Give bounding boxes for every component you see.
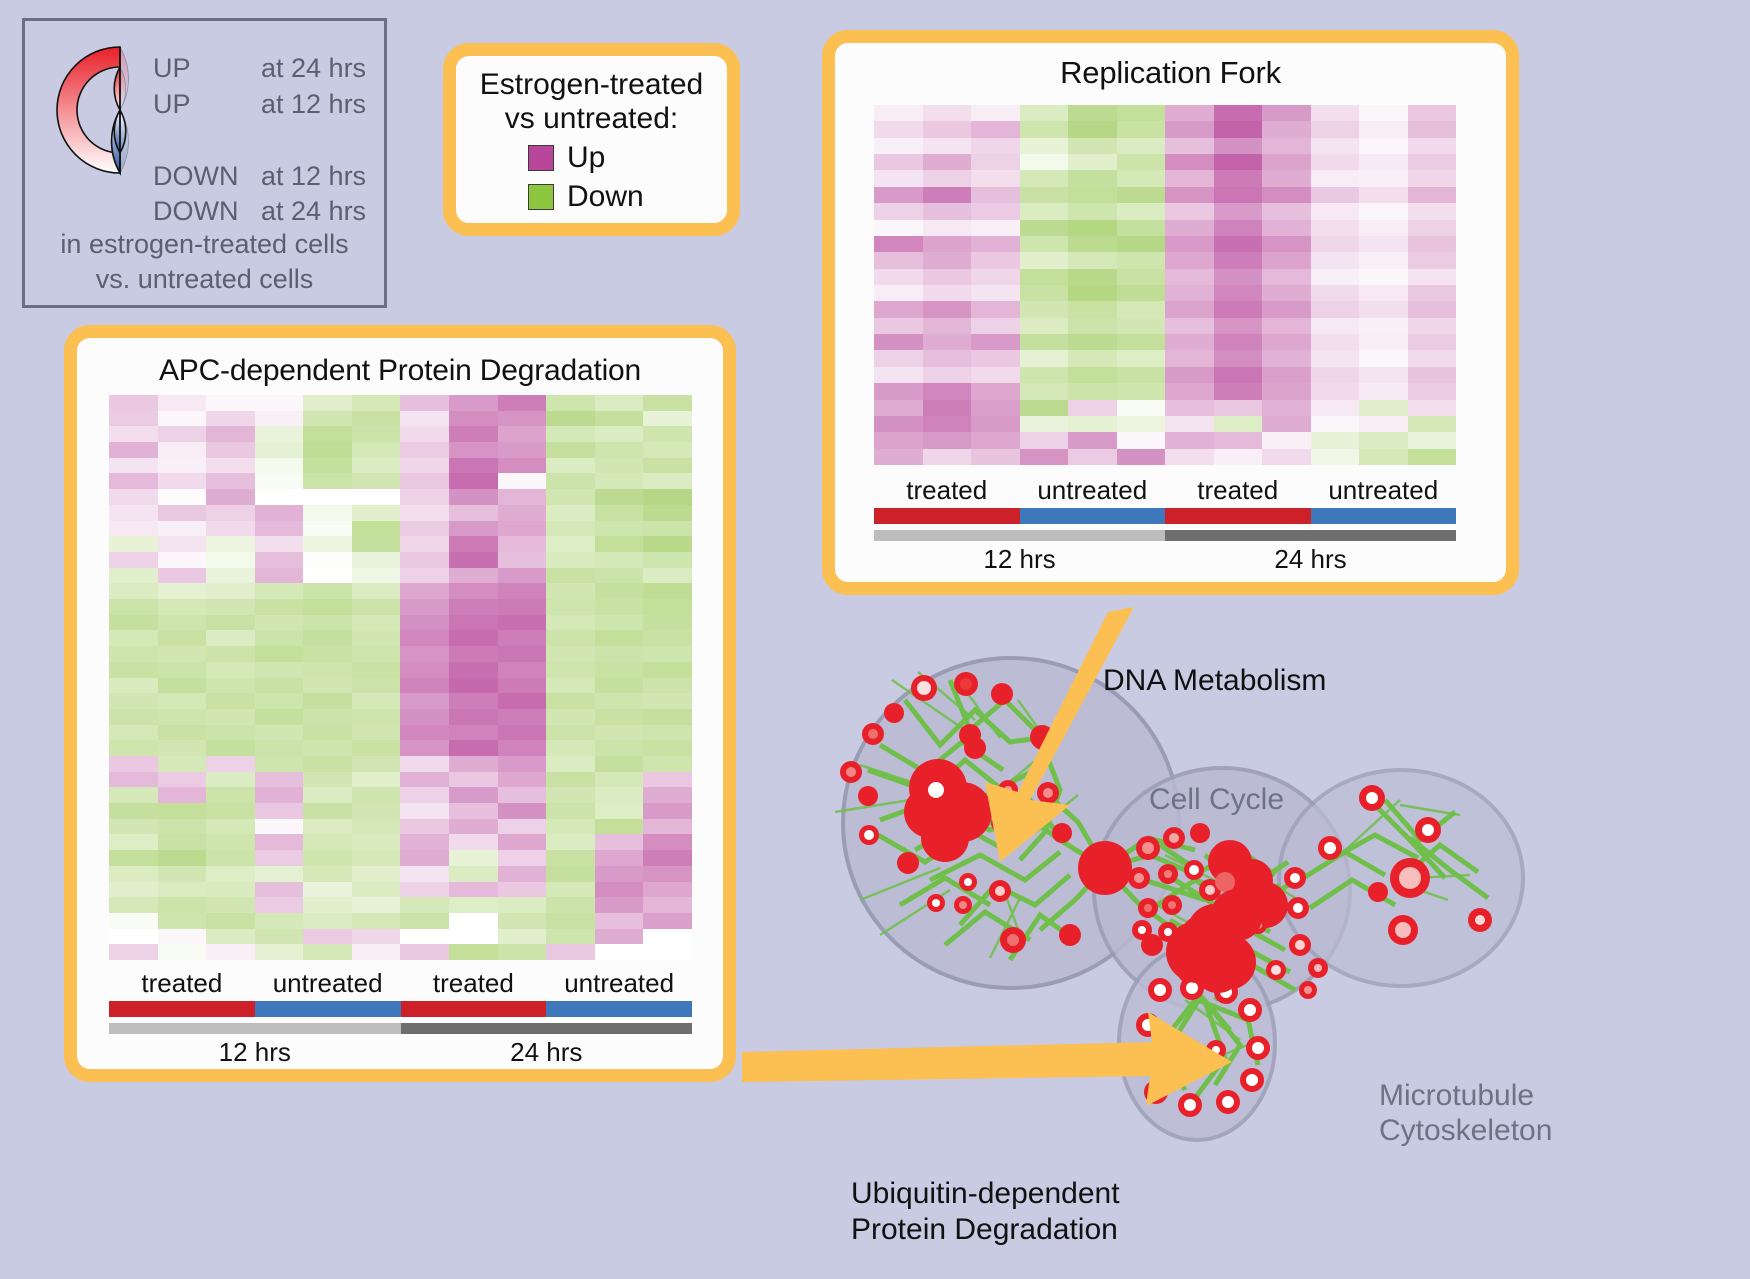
up-swatch-icon [528, 145, 554, 171]
heatmap-cell [923, 105, 972, 121]
heatmap-cell [923, 252, 972, 268]
heatmap-cell [1262, 318, 1311, 334]
heatmap-cell [1068, 400, 1117, 416]
heatmap-cell [1117, 187, 1166, 203]
heatmap-cell [352, 882, 401, 898]
bar-segment-24hrs [401, 1023, 547, 1034]
heatmap-cell [1408, 203, 1457, 219]
heatmap-cell [400, 552, 449, 568]
heatmap-cell [303, 615, 352, 631]
heatmap-cell [449, 583, 498, 599]
heatmap-cell [1311, 269, 1360, 285]
bar-segment-12hrs [109, 1023, 255, 1034]
heatmap-cell [206, 615, 255, 631]
heatmap-cell [1117, 301, 1166, 317]
heatmap-cell [923, 138, 972, 154]
heatmap-cell [1311, 301, 1360, 317]
heatmap-cell [1165, 121, 1214, 137]
heatmap-cell [1020, 400, 1069, 416]
heatmap-cell [303, 882, 352, 898]
heatmap-cell [498, 568, 547, 584]
heatmap-cell [498, 803, 547, 819]
heatmap-cell [352, 678, 401, 694]
heatmap-cell [109, 505, 158, 521]
heatmap-cell [1117, 252, 1166, 268]
heatmap-cell [498, 866, 547, 882]
heatmap-cell [449, 521, 498, 537]
heatmap-cell [352, 787, 401, 803]
heatmap-cell [206, 473, 255, 489]
heatmap-cell [449, 552, 498, 568]
heatmap-cell [449, 473, 498, 489]
heatmap-cell [643, 944, 692, 960]
heatmap-cell [206, 897, 255, 913]
heatmap-cell [158, 819, 207, 835]
heatmap-cell [109, 756, 158, 772]
heatmap-cell [1068, 416, 1117, 432]
heatmap-cell [1311, 318, 1360, 334]
heatmap-cell [1408, 432, 1457, 448]
heatmap-cell [303, 850, 352, 866]
heatmap-cell [498, 850, 547, 866]
heatmap-cell [874, 400, 923, 416]
heatmap-cell [1408, 105, 1457, 121]
heatmap-cell [546, 568, 595, 584]
legend-item-down: Down [528, 180, 727, 214]
heatmap-cell [546, 411, 595, 427]
cluster-microtubule [1279, 770, 1523, 986]
heatmap-cell [1165, 105, 1214, 121]
heatmap-cell [109, 489, 158, 505]
heatmap-cell [546, 819, 595, 835]
heatmap-cell [643, 709, 692, 725]
heatmap-cell [109, 850, 158, 866]
heatmap-cell [1311, 383, 1360, 399]
heatmap-cell [1311, 416, 1360, 432]
heatmap-cell [498, 725, 547, 741]
heatmap-cell [595, 662, 644, 678]
heatmap-cell [109, 678, 158, 694]
heatmap-cell [595, 395, 644, 411]
heatmap-cell [206, 834, 255, 850]
heatmap-cell [643, 913, 692, 929]
heatmap-cell [643, 630, 692, 646]
heatmap-cell [206, 536, 255, 552]
bar-segment-untreated [1311, 508, 1457, 524]
heatmap-cell [1068, 105, 1117, 121]
heatmap-cell [303, 646, 352, 662]
heatmap-cell [400, 458, 449, 474]
heatmap-cell [400, 819, 449, 835]
heatmap-cell [546, 913, 595, 929]
heatmap-cell [1117, 203, 1166, 219]
heatmap-cell [206, 521, 255, 537]
heatmap-cell [546, 944, 595, 960]
heatmap-cell [971, 236, 1020, 252]
heatmap-cell [158, 756, 207, 772]
heatmap-cell [595, 834, 644, 850]
heatmap-cell [498, 944, 547, 960]
heatmap-cell [1311, 252, 1360, 268]
heatmap-cell [1068, 252, 1117, 268]
heatmap-cell [449, 803, 498, 819]
heatmap-cell [449, 568, 498, 584]
heatmap-cell [546, 787, 595, 803]
heatmap-cell [595, 756, 644, 772]
heatmap-cell [255, 709, 304, 725]
heatmap-cell [546, 678, 595, 694]
heatmap-cell [158, 395, 207, 411]
heatmap-cell [400, 442, 449, 458]
heatmap-cell [352, 552, 401, 568]
heatmap-cell [1214, 400, 1263, 416]
label-dna-metabolism: DNA Metabolism [1103, 664, 1326, 698]
heatmap-cell [971, 301, 1020, 317]
heatmap-cell [352, 756, 401, 772]
heatmap-cell [109, 929, 158, 945]
heatmap-cell [206, 803, 255, 819]
heatmap-cell [923, 121, 972, 137]
heatmap-cell [109, 897, 158, 913]
heatmap-cell [1068, 350, 1117, 366]
heatmap-cell [546, 536, 595, 552]
heatmap-cell [158, 630, 207, 646]
bar-segment-12hrs [1020, 530, 1166, 541]
heatmap-cell [498, 662, 547, 678]
heatmap-cell [109, 882, 158, 898]
heatmap-cell [303, 568, 352, 584]
heatmap-cell [1068, 432, 1117, 448]
key-time: at 12 hrs [261, 161, 366, 191]
heatmap-cell [449, 411, 498, 427]
bar-segment-12hrs [255, 1023, 401, 1034]
heatmap-cell [158, 913, 207, 929]
heatmap-cell [1068, 203, 1117, 219]
heatmap-cell [595, 882, 644, 898]
heatmap-cell [923, 334, 972, 350]
bar-segment-treated [109, 1001, 255, 1017]
heatmap-cell [109, 866, 158, 882]
heatmap-cell [303, 552, 352, 568]
heatmap-cell [255, 678, 304, 694]
node-ringed [840, 672, 1492, 1117]
heatmap-cell [643, 395, 692, 411]
heatmap-cell [255, 882, 304, 898]
heatmap-cell [1020, 138, 1069, 154]
heatmap-cell [1117, 236, 1166, 252]
heatmap-cell [874, 449, 923, 465]
heatmap-cell [595, 615, 644, 631]
heatmap-cell [1117, 318, 1166, 334]
heatmap-cell [971, 350, 1020, 366]
heatmap-cell [546, 599, 595, 615]
heatmap-cell [400, 630, 449, 646]
heatmap-cell [303, 834, 352, 850]
heatmap-cell [1214, 449, 1263, 465]
heatmap-cell [643, 458, 692, 474]
heatmap-cell [449, 662, 498, 678]
legend-title-line1: Estrogen-treated [456, 68, 727, 102]
key-row-up-24: UPat 24 hrs [153, 53, 366, 84]
heatmap-cell [303, 756, 352, 772]
heatmap-cell [643, 411, 692, 427]
heatmap-cell [400, 583, 449, 599]
heatmap-cell [595, 505, 644, 521]
heatmap-cell [1214, 334, 1263, 350]
heatmap-cell [206, 552, 255, 568]
heatmap-cell [400, 866, 449, 882]
heatmap-cell [206, 395, 255, 411]
heatmap-cell [1020, 203, 1069, 219]
heatmap-cell [255, 599, 304, 615]
heatmap-cell [643, 787, 692, 803]
heatmap-cell [158, 944, 207, 960]
heatmap-cell [1359, 220, 1408, 236]
heatmap-cell [1359, 285, 1408, 301]
group-label: treated [401, 968, 547, 999]
heatmap-cell [595, 897, 644, 913]
heatmap-cell [595, 725, 644, 741]
heatmap-cell [303, 944, 352, 960]
heatmap-cell [400, 411, 449, 427]
heatmap-cell [546, 395, 595, 411]
group-labels: treated untreated treated untreated [109, 968, 692, 999]
heatmap-cell [546, 772, 595, 788]
heatmap-cell [158, 725, 207, 741]
apc-degradation-panel: APC-dependent Protein Degradation treate… [64, 325, 736, 1082]
heatmap-cell [352, 505, 401, 521]
heatmap-cell [1359, 318, 1408, 334]
heatmap-cell [109, 426, 158, 442]
heatmap-cell [1214, 416, 1263, 432]
heatmap-cell [595, 929, 644, 945]
heatmap-cell [498, 709, 547, 725]
heatmap-cell [1262, 301, 1311, 317]
heatmap-cell [971, 220, 1020, 236]
heatmap-cell [158, 693, 207, 709]
heatmap-cell [158, 929, 207, 945]
heatmap-cell [206, 913, 255, 929]
key-time: at 24 hrs [261, 196, 366, 226]
heatmap-cell [1408, 350, 1457, 366]
heatmap-cell [352, 630, 401, 646]
heatmap-cell [643, 615, 692, 631]
heatmap-cell [206, 426, 255, 442]
heatmap-cell [1359, 432, 1408, 448]
group-label: treated [109, 968, 255, 999]
heatmap-cell [206, 709, 255, 725]
heatmap-cell [400, 944, 449, 960]
heatmap-cell [643, 442, 692, 458]
heatmap-cell [1262, 400, 1311, 416]
heatmap-cell [303, 599, 352, 615]
heatmap-cell [498, 678, 547, 694]
heatmap-cell [206, 725, 255, 741]
cluster-ubiquitin [1119, 946, 1275, 1140]
heatmap-cell [874, 350, 923, 366]
bar-segment-24hrs [1165, 530, 1311, 541]
timepoint-labels: 12 hrs 24 hrs [874, 544, 1456, 575]
heatmap-cell [595, 568, 644, 584]
heatmap-cell [109, 772, 158, 788]
updown-legend-panel: Estrogen-treated vs untreated: Up Down [443, 43, 740, 236]
heatmap-cell [1117, 121, 1166, 137]
heatmap-cell [498, 740, 547, 756]
heatmap-cell [255, 489, 304, 505]
heatmap-cell [546, 834, 595, 850]
heatmap-cell [1117, 449, 1166, 465]
heatmap-cell [498, 615, 547, 631]
heatmap-cell [352, 411, 401, 427]
heatmap-cell [303, 630, 352, 646]
heatmap-cell [109, 803, 158, 819]
heatmap-cell [158, 583, 207, 599]
heatmap-cell [971, 121, 1020, 137]
heatmap-cell [400, 395, 449, 411]
heatmap-cell [874, 187, 923, 203]
heatmap-cell [352, 803, 401, 819]
heatmap-cell [546, 693, 595, 709]
heatmap-cell [874, 121, 923, 137]
heatmap-cell [546, 866, 595, 882]
node-hub [1166, 889, 1263, 993]
heatmap-cell [874, 170, 923, 186]
heatmap-cell [971, 252, 1020, 268]
heatmap-cell [595, 803, 644, 819]
heatmap-cell [498, 787, 547, 803]
group-label: untreated [1020, 475, 1166, 506]
heatmap-cell [595, 630, 644, 646]
heatmap-cell [1117, 170, 1166, 186]
heatmap-cell [1214, 121, 1263, 137]
heatmap-cell [206, 787, 255, 803]
heatmap-cell [643, 725, 692, 741]
heatmap-cell [874, 252, 923, 268]
heatmap-cell [352, 583, 401, 599]
heatmap-cell [255, 458, 304, 474]
heatmap-cell [400, 709, 449, 725]
heatmap-cell [158, 662, 207, 678]
heatmap-cell [874, 105, 923, 121]
heatmap-cell [1359, 236, 1408, 252]
heatmap-cell [1408, 220, 1457, 236]
heatmap-cell [1068, 334, 1117, 350]
heatmap-cell [303, 395, 352, 411]
heatmap-cell [971, 285, 1020, 301]
bar-segment-24hrs [546, 1023, 692, 1034]
heatmap-cell [303, 897, 352, 913]
heatmap-cell [1117, 220, 1166, 236]
heatmap-cell [352, 709, 401, 725]
heatmap-cell [449, 725, 498, 741]
heatmap-cell [158, 489, 207, 505]
heatmap-cell [1262, 367, 1311, 383]
legend-title-line2: vs untreated: [456, 102, 727, 136]
heatmap-cell [1068, 138, 1117, 154]
heatmap-cell [158, 709, 207, 725]
heatmap-cell [546, 740, 595, 756]
heatmap-cell [1165, 432, 1214, 448]
heatmap-cell [643, 929, 692, 945]
heatmap-cell [303, 521, 352, 537]
heatmap-cell [206, 662, 255, 678]
heatmap-cell [449, 536, 498, 552]
heatmap-cell [643, 772, 692, 788]
heatmap-cell [1408, 449, 1457, 465]
timepoint-label: 12 hrs [874, 544, 1165, 575]
heatmap-cell [1165, 301, 1214, 317]
panel-title: APC-dependent Protein Degradation [77, 338, 723, 388]
heatmap-cell [109, 568, 158, 584]
heatmap-cell [546, 725, 595, 741]
heatmap-cell [206, 568, 255, 584]
heatmap-cell [352, 834, 401, 850]
apc-degradation-heatmap [109, 395, 692, 960]
heatmap-cell [352, 646, 401, 662]
heatmap-cell [1359, 400, 1408, 416]
heatmap-cell [1359, 121, 1408, 137]
heatmap-cell [255, 411, 304, 427]
heatmap-cell [303, 473, 352, 489]
heatmap-cell [449, 897, 498, 913]
heatmap-cell [352, 740, 401, 756]
heatmap-cell [158, 458, 207, 474]
heatmap-cell [449, 489, 498, 505]
heatmap-cell [546, 662, 595, 678]
replication-fork-heatmap [874, 105, 1456, 465]
heatmap-cell [255, 772, 304, 788]
heatmap-cell [255, 787, 304, 803]
heatmap-cell [1359, 367, 1408, 383]
heatmap-cell [449, 787, 498, 803]
heatmap-cell [971, 400, 1020, 416]
heatmap-cell [643, 803, 692, 819]
heatmap-cell [643, 834, 692, 850]
heatmap-cell [1165, 252, 1214, 268]
heatmap-cell [1020, 187, 1069, 203]
heatmap-cell [498, 442, 547, 458]
heatmap-cell [643, 426, 692, 442]
heatmap-cell [109, 913, 158, 929]
group-label: untreated [546, 968, 692, 999]
heatmap-cell [1165, 449, 1214, 465]
timepoint-label: 12 hrs [109, 1037, 401, 1068]
heatmap-cell [643, 505, 692, 521]
heatmap-cell [449, 630, 498, 646]
heatmap-cell [109, 709, 158, 725]
heatmap-cell [1020, 285, 1069, 301]
heatmap-cell [874, 220, 923, 236]
heatmap-cell [1311, 138, 1360, 154]
heatmap-cell [971, 138, 1020, 154]
heatmap-cell [1020, 105, 1069, 121]
heatmap-cell [206, 740, 255, 756]
heatmap-cell [449, 709, 498, 725]
heatmap-cell [546, 646, 595, 662]
heatmap-cell [1408, 318, 1457, 334]
heatmap-cell [109, 662, 158, 678]
heatmap-cell [109, 615, 158, 631]
heatmap-cell [1165, 170, 1214, 186]
heatmap-cell [1068, 170, 1117, 186]
heatmap-cell [1020, 220, 1069, 236]
bar-segment-untreated [255, 1001, 401, 1017]
heatmap-cell [352, 489, 401, 505]
heatmap-cell [352, 944, 401, 960]
heatmap-cell [1214, 236, 1263, 252]
heatmap-cell [352, 521, 401, 537]
heatmap-cell [109, 834, 158, 850]
